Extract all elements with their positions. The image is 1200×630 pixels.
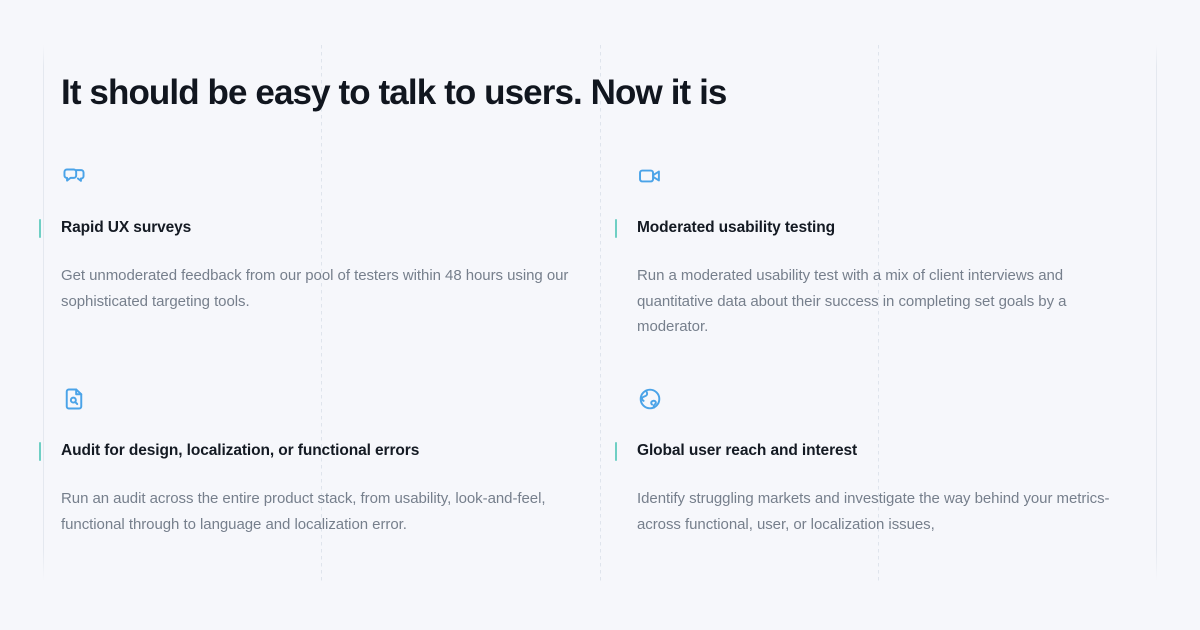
left-rule (43, 45, 44, 581)
feature-description: Identify struggling markets and investig… (637, 486, 1131, 537)
chat-bubbles-icon (61, 163, 87, 189)
accent-bar (39, 219, 41, 238)
feature-title-row: Global user reach and interest (637, 441, 1141, 460)
feature-card-audit-for-errors: Audit for design, localization, or funct… (61, 386, 619, 552)
feature-grid: Rapid UX surveys Get unmoderated feedbac… (61, 163, 1141, 552)
video-camera-icon (637, 163, 663, 189)
feature-title: Global user reach and interest (637, 442, 857, 459)
feature-description: Run an audit across the entire product s… (61, 486, 573, 537)
feature-title-row: Rapid UX surveys (61, 218, 619, 237)
right-rule (1156, 45, 1157, 581)
feature-title: Moderated usability testing (637, 219, 835, 236)
feature-section: It should be easy to talk to users. Now … (0, 0, 1200, 630)
feature-description: Run a moderated usability test with a mi… (637, 263, 1131, 340)
feature-title-row: Moderated usability testing (637, 218, 1141, 237)
feature-title: Audit for design, localization, or funct… (61, 442, 419, 459)
accent-bar (39, 442, 41, 461)
section-headline: It should be easy to talk to users. Now … (61, 72, 726, 114)
feature-card-global-user-reach: Global user reach and interest Identify … (619, 386, 1141, 552)
feature-title-row: Audit for design, localization, or funct… (61, 441, 619, 460)
file-search-icon (61, 386, 87, 412)
feature-description: Get unmoderated feedback from our pool o… (61, 263, 573, 314)
feature-title: Rapid UX surveys (61, 219, 191, 236)
feature-card-rapid-ux-surveys: Rapid UX surveys Get unmoderated feedbac… (61, 163, 619, 386)
feature-card-moderated-usability-testing: Moderated usability testing Run a modera… (619, 163, 1141, 386)
accent-bar (615, 442, 617, 461)
globe-icon (637, 386, 663, 412)
accent-bar (615, 219, 617, 238)
